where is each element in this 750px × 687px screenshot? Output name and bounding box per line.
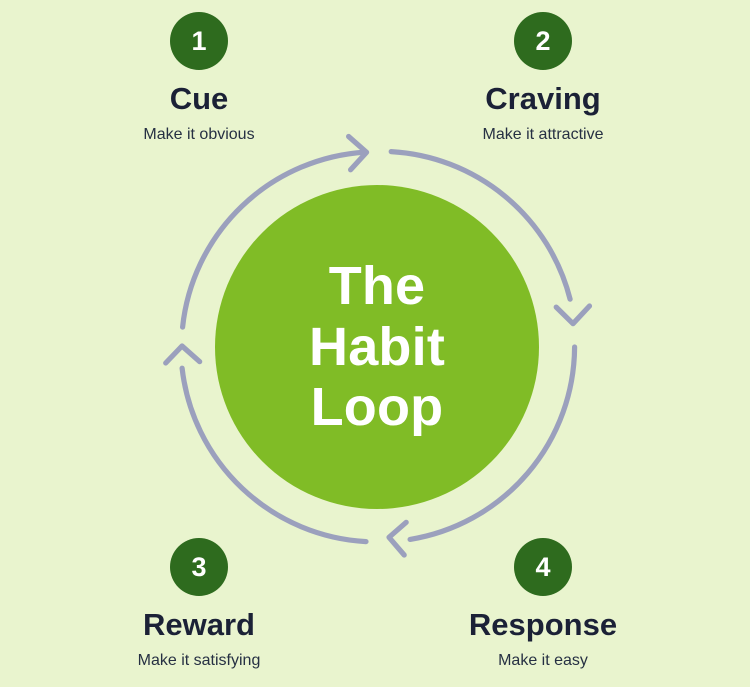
center-title-line-2: Habit <box>309 317 445 377</box>
center-hub: The Habit Loop <box>215 185 539 509</box>
stage-craving: 2 Craving Make it attractive <box>413 12 673 144</box>
stage-number-3: 3 <box>191 554 206 581</box>
stage-badge-3: 3 <box>170 538 228 596</box>
stage-number-2: 2 <box>535 28 550 55</box>
stage-badge-4: 4 <box>514 538 572 596</box>
stage-title-2: Craving <box>485 82 600 116</box>
arrowhead-left <box>166 346 200 363</box>
habit-loop-diagram: The Habit Loop 1 Cue Make it obvious 2 C… <box>0 0 750 687</box>
stage-reward: 3 Reward Make it satisfying <box>69 538 329 670</box>
stage-badge-1: 1 <box>170 12 228 70</box>
stage-response: 4 Response Make it easy <box>413 538 673 670</box>
arrowhead-bottom <box>389 522 406 555</box>
stage-subtitle-3: Make it satisfying <box>138 651 261 670</box>
center-title-line-3: Loop <box>311 377 444 437</box>
stage-badge-2: 2 <box>514 12 572 70</box>
stage-number-4: 4 <box>535 554 550 581</box>
stage-title-4: Response <box>469 608 617 642</box>
stage-subtitle-2: Make it attractive <box>483 125 604 144</box>
stage-cue: 1 Cue Make it obvious <box>69 12 329 144</box>
stage-subtitle-1: Make it obvious <box>143 125 254 144</box>
stage-title-3: Reward <box>143 608 255 642</box>
center-title-line-1: The <box>329 256 426 316</box>
stage-number-1: 1 <box>191 28 206 55</box>
arrowhead-right <box>556 306 589 324</box>
stage-title-1: Cue <box>170 82 229 116</box>
stage-subtitle-4: Make it easy <box>498 651 588 670</box>
